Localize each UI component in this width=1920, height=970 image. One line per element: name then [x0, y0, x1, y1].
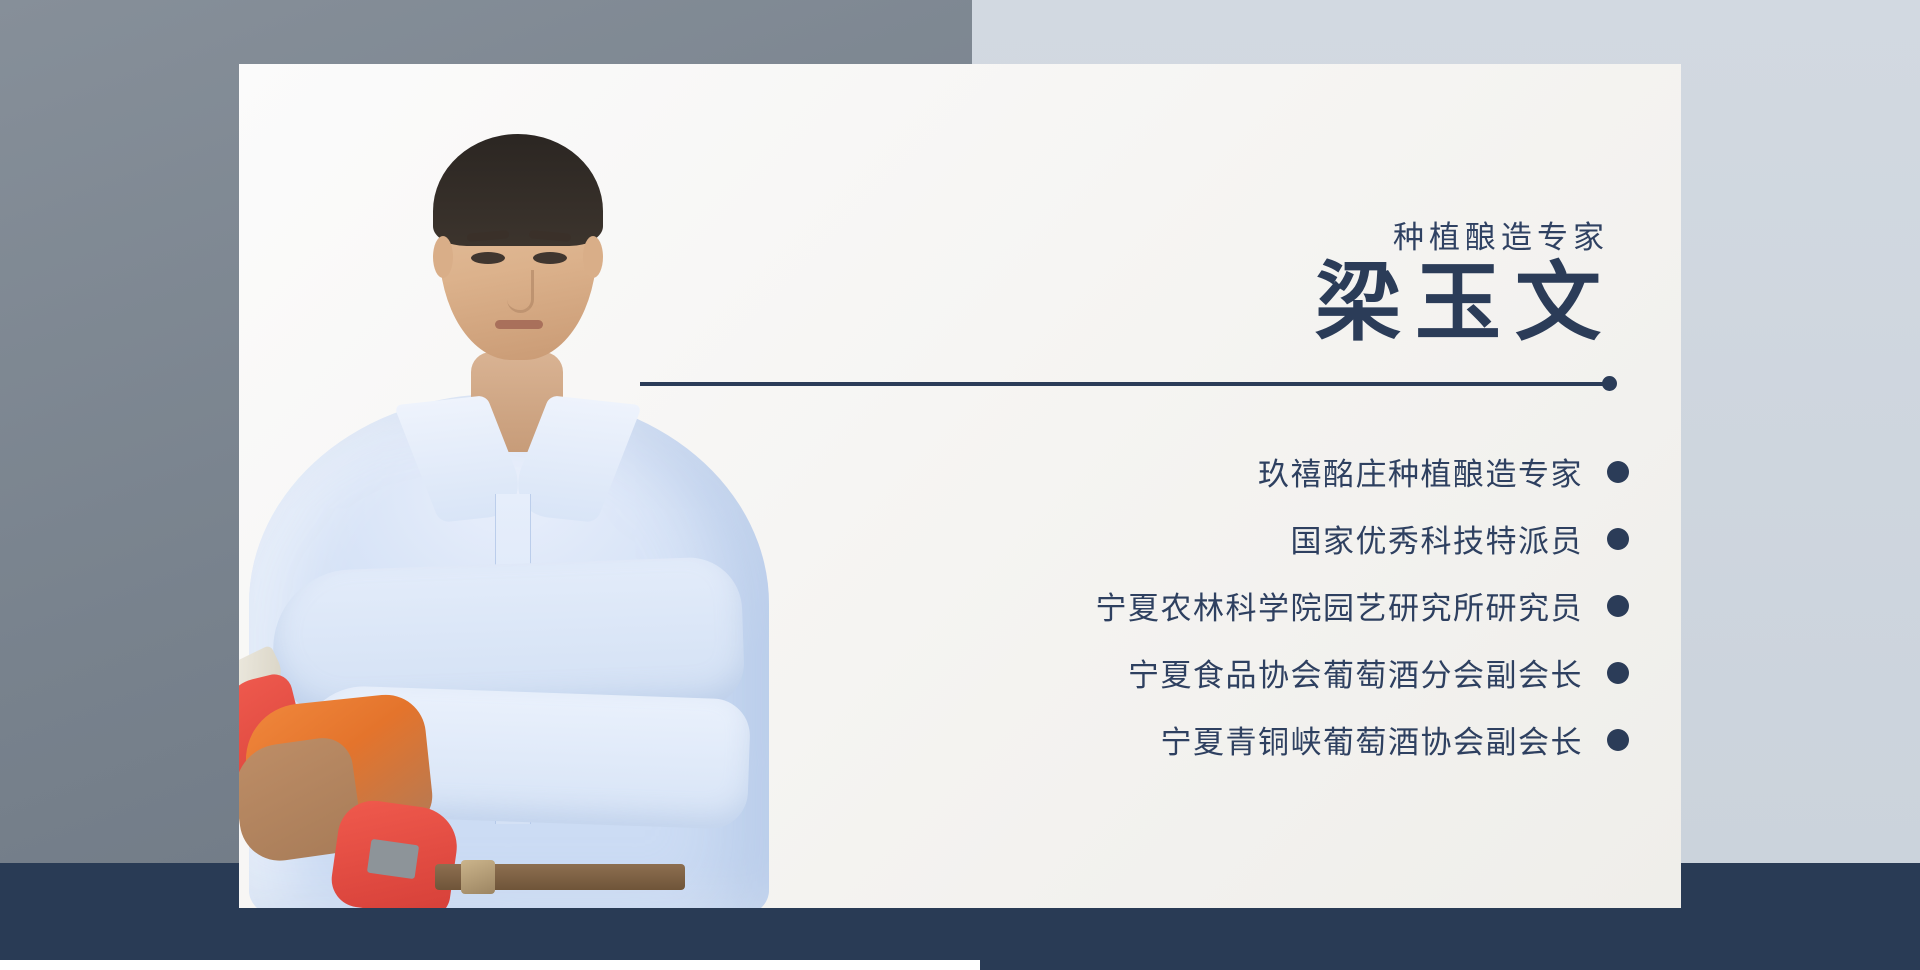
divider-end-dot-icon — [1602, 376, 1617, 391]
portrait-belt-buckle — [461, 860, 495, 894]
credentials-list: 玖禧酩庄种植酿造专家 国家优秀科技特派员 宁夏农林科学院园艺研究所研究员 宁夏食… — [789, 438, 1629, 773]
portrait-photo — [239, 64, 799, 908]
bullet-dot-icon — [1607, 595, 1629, 617]
list-item: 宁夏农林科学院园艺研究所研究员 — [789, 572, 1629, 639]
bullet-dot-icon — [1607, 662, 1629, 684]
divider-line — [640, 382, 1608, 386]
profile-subtitle: 种植酿造专家 — [1393, 212, 1609, 257]
profile-name: 梁玉文 — [1315, 260, 1615, 346]
poster-canvas: 种植酿造专家 梁玉文 玖禧酩庄种植酿造专家 国家优秀科技特派员 宁夏农林科学院园… — [0, 0, 1920, 970]
credential-label: 宁夏食品协会葡萄酒分会副会长 — [1128, 650, 1583, 695]
portrait-pruning-shear-label — [367, 839, 419, 879]
credential-label: 宁夏青铜峡葡萄酒协会副会长 — [1161, 717, 1584, 762]
portrait-ear-left — [433, 236, 453, 278]
profile-card: 种植酿造专家 梁玉文 玖禧酩庄种植酿造专家 国家优秀科技特派员 宁夏农林科学院园… — [239, 64, 1681, 908]
credential-label: 玖禧酩庄种植酿造专家 — [1258, 449, 1583, 494]
portrait-eye-right — [533, 252, 567, 264]
bullet-dot-icon — [1607, 461, 1629, 483]
background-navy-notch — [0, 960, 980, 970]
credential-label: 宁夏农林科学院园艺研究所研究员 — [1096, 583, 1584, 628]
list-item: 宁夏青铜峡葡萄酒协会副会长 — [789, 706, 1629, 773]
bullet-dot-icon — [1607, 729, 1629, 751]
list-item: 宁夏食品协会葡萄酒分会副会长 — [789, 639, 1629, 706]
portrait-nose — [507, 270, 534, 313]
list-item: 国家优秀科技特派员 — [789, 505, 1629, 572]
portrait-mouth — [495, 320, 543, 329]
portrait-hair — [433, 134, 603, 246]
portrait-eye-left — [471, 252, 505, 264]
list-item: 玖禧酩庄种植酿造专家 — [789, 438, 1629, 505]
portrait-ear-right — [583, 236, 603, 278]
bullet-dot-icon — [1607, 528, 1629, 550]
credential-label: 国家优秀科技特派员 — [1291, 516, 1584, 561]
